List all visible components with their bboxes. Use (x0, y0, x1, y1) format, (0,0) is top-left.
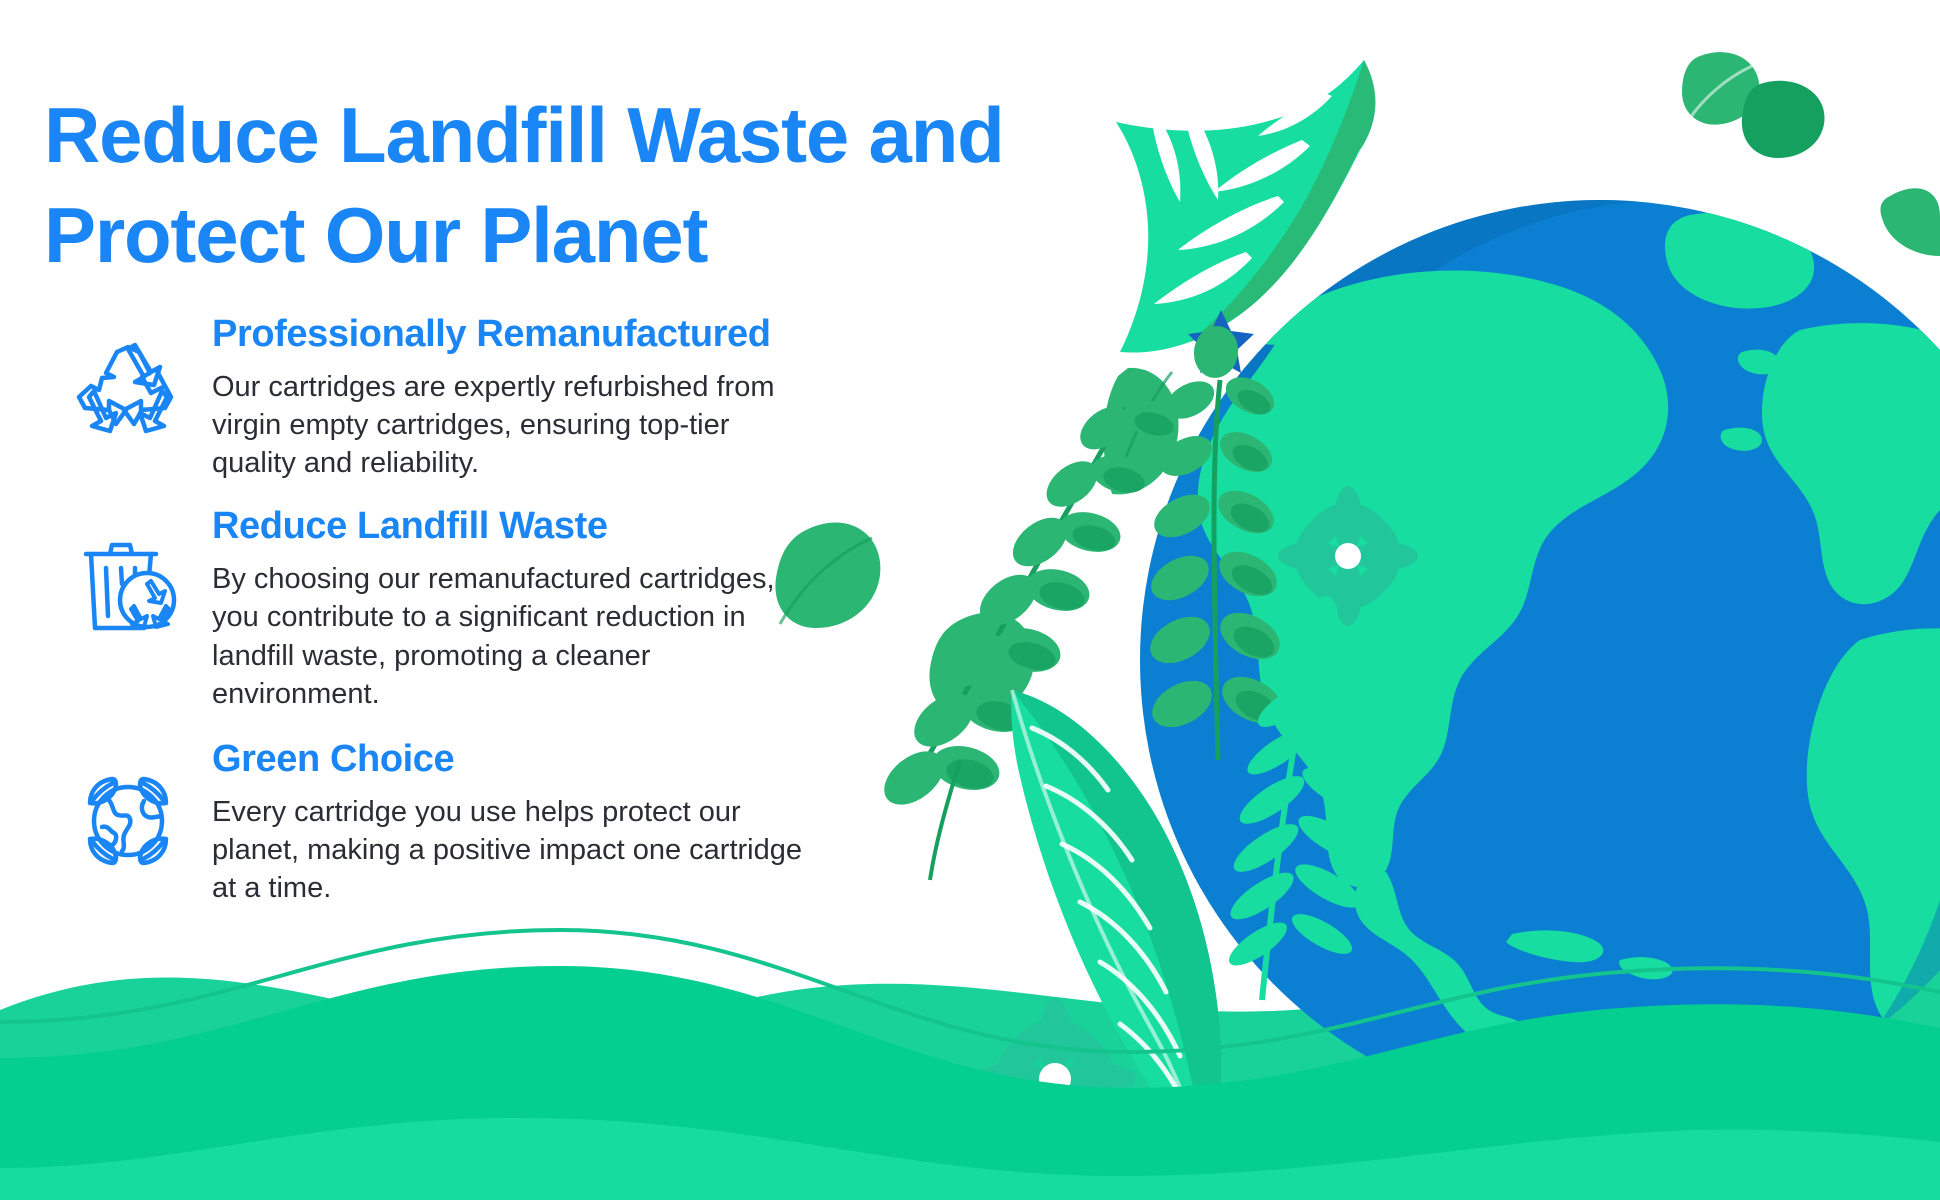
landmass-hispaniola (1619, 957, 1673, 979)
floating-leaf-right-edge (1880, 188, 1940, 256)
page-title: Reduce Landfill Waste and Protect Our Pl… (44, 86, 1084, 286)
eco-promo-banner: Reduce Landfill Waste and Protect Our Pl… (0, 0, 1940, 1200)
globe-shadow (1700, 200, 1940, 1120)
feature-text-0: Professionally Remanufactured Our cartri… (212, 312, 852, 482)
floating-leaf-mid (1104, 368, 1179, 495)
blue-star-decoration (1188, 310, 1254, 373)
trash-bin-recycle-icon (72, 532, 184, 644)
recycle-arrows-icon (72, 340, 184, 452)
feature-title-2: Green Choice (212, 737, 852, 783)
landmass-iceland (1738, 350, 1780, 375)
monstera-leaf (1116, 60, 1375, 353)
globe-leaves-icon (72, 765, 184, 877)
leaf-sprig-center (1142, 323, 1289, 760)
feature-text-1: Reduce Landfill Waste By choosing our re… (212, 504, 852, 713)
trash-bin-recycle-icon-wrap (44, 504, 212, 644)
feature-item-green-choice: Green Choice Every cartridge you use hel… (44, 737, 1044, 907)
landmass-greenland (1665, 212, 1814, 309)
floating-leaf-small-2 (1742, 81, 1825, 158)
feature-description-1: By choosing our remanufactured cartridge… (212, 560, 812, 713)
landmass-europe (1762, 323, 1940, 604)
feature-description-0: Our cartridges are expertly refurbished … (212, 368, 812, 483)
landmass-south-america (1481, 1012, 1798, 1200)
globe-leaves-icon-wrap (44, 737, 212, 877)
landmass-north-america (1198, 270, 1668, 887)
recycle-arrows-icon-wrap (44, 312, 212, 452)
landmass-central-america (1355, 872, 1528, 1052)
feature-title-0: Professionally Remanufactured (212, 312, 852, 358)
feature-item-reduce-landfill-waste: Reduce Landfill Waste By choosing our re… (44, 504, 1044, 713)
content-column: Reduce Landfill Waste and Protect Our Pl… (0, 0, 1100, 1200)
daisy-flower-upper (1278, 486, 1418, 626)
feature-title-1: Reduce Landfill Waste (212, 504, 852, 550)
fern-frond (1223, 595, 1383, 1000)
landmass-cuba (1506, 930, 1603, 962)
landmass-africa (1807, 628, 1940, 1036)
landmass-alaska (1226, 303, 1320, 345)
landmass-british-isles (1721, 428, 1762, 451)
feature-description-2: Every cartridge you use helps protect ou… (212, 793, 812, 908)
feature-list: Professionally Remanufactured Our cartri… (44, 312, 1044, 907)
feature-item-professionally-remanufactured: Professionally Remanufactured Our cartri… (44, 312, 1044, 482)
floating-leaf-small (1682, 52, 1759, 125)
feature-text-2: Green Choice Every cartridge you use hel… (212, 737, 852, 907)
globe-ocean (1140, 200, 1940, 1120)
